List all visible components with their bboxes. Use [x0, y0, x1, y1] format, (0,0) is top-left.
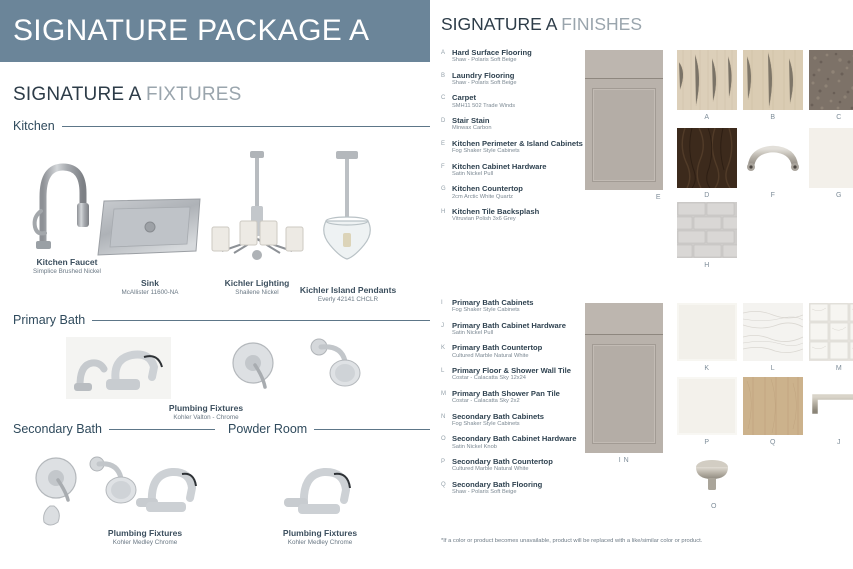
swatch-F-kitchen-cabinet-hardware: F: [743, 128, 803, 188]
legend-letter: G: [441, 184, 447, 200]
legend-item: B Laundry Flooring Shaw - Polaris Soft B…: [441, 71, 591, 87]
section-rule: [62, 126, 430, 127]
swatch-label-P: P: [704, 439, 709, 446]
fixture-caption-powder-plumbing: Plumbing Fixtures Kohler Medley Chrome: [240, 528, 400, 547]
mosaic-tile-texture: [809, 303, 853, 361]
legend-sub: Minwax Carbon: [452, 125, 492, 132]
finishes-column: SIGNATURE A FINISHES A Hard Surface Floo…: [436, 0, 853, 569]
legend-letter: F: [441, 162, 447, 178]
primary-bath-fixtures-area: Plumbing Fixtures Kohler Valton - Chrome: [0, 327, 430, 422]
legend-letter: L: [441, 366, 447, 382]
legend-letter: N: [441, 412, 447, 428]
fixture-sub: Kohler Medley Chrome: [240, 539, 400, 547]
primary-shower-head-image: [305, 335, 370, 397]
legend-name: Secondary Bath Flooring: [452, 480, 542, 489]
fixture-name: Kichler Island Pendants: [268, 285, 428, 296]
legend-item: A Hard Surface Flooring Shaw - Polaris S…: [441, 48, 591, 64]
kitchen-fixtures-area: Kitchen Faucet Simplice Brushed Nickel S…: [0, 133, 430, 313]
swatch-grid-top: E A: [585, 50, 853, 265]
fixture-name: Plumbing Fixtures: [240, 528, 400, 539]
section-rule: [92, 320, 430, 321]
fixture-caption-primary-plumbing: Plumbing Fixtures Kohler Valton - Chrome: [126, 403, 286, 422]
swatch-L-primary-floor-shower-tile: L: [743, 303, 803, 361]
legend-sub: 2cm Arctic White Quartz: [452, 194, 523, 201]
swatch-label-J: J: [837, 439, 841, 446]
legend-item: N Secondary Bath Cabinets Fog Shaker Sty…: [441, 412, 591, 428]
swatch-label-G: G: [836, 192, 842, 199]
calacatta-marble-texture: [743, 303, 803, 361]
swatch-Q-secondary-bath-flooring: Q: [743, 377, 803, 435]
swatch-label-F: F: [771, 192, 776, 199]
fixture-name: Plumbing Fixtures: [126, 403, 286, 414]
subway-tile-texture: [677, 202, 737, 258]
swatch-label-B: B: [770, 114, 775, 121]
legend-item: P Secondary Bath Countertop Cultured Mar…: [441, 457, 591, 473]
cabinet-door-drawing: [585, 50, 663, 190]
legend-sub: Costar - Calacatta Sky 12x24: [452, 375, 571, 382]
fixture-caption-secondary-plumbing: Plumbing Fixtures Kohler Medley Chrome: [65, 528, 225, 547]
legend-letter: B: [441, 71, 447, 87]
powder-lav-faucet-image: [278, 460, 358, 522]
legend-name: Kitchen Countertop: [452, 184, 523, 193]
legend-sub: Shaw - Polaris Soft Beige: [452, 57, 532, 64]
secondary-lav-faucet-image: [130, 458, 200, 520]
cultured-marble-texture: [677, 377, 737, 435]
swatch-label-O: O: [711, 503, 717, 510]
fixture-sub: Everly 42141 CHCLR: [268, 296, 428, 304]
legend-name: Secondary Bath Countertop: [452, 457, 553, 466]
finishes-heading-light: FINISHES: [561, 14, 642, 34]
legend-sub: Cultured Marble Natural White: [452, 353, 542, 360]
kichler-lighting-image: [202, 147, 312, 272]
section-label-secondary-bath: Secondary Bath: [13, 422, 102, 436]
cabinet-drawer: [585, 50, 663, 79]
swatch-IN-bath-cabinet: I N: [585, 303, 663, 453]
cabinet-drawer: [585, 303, 663, 335]
legend-sub: Vitruvian Polish 3x6 Grey: [452, 216, 539, 223]
powder-room-col: Powder Room: [215, 422, 430, 436]
carpet-texture: [809, 50, 853, 110]
legend-letter: Q: [441, 480, 447, 496]
wood-plank-texture: [743, 50, 803, 110]
swatch-label-Q: Q: [770, 439, 776, 446]
swatch-grid-bottom: I N K: [585, 303, 853, 518]
legend-letter: P: [441, 457, 447, 473]
swatch-A-hard-surface-flooring: A: [677, 50, 737, 110]
section-rule: [314, 429, 430, 430]
finishes-legend-group-2: I Primary Bath Cabinets Fog Shaker Style…: [441, 298, 591, 503]
page-title: SIGNATURE PACKAGE A: [0, 14, 369, 48]
legend-sub: Fog Shaker Style Cabinets: [452, 148, 583, 155]
cultured-marble-texture: [677, 303, 737, 361]
cabinet-door-drawing: [585, 303, 663, 453]
legend-name: Primary Bath Countertop: [452, 343, 542, 352]
legend-sub: Satin Nickel Knob: [452, 444, 577, 451]
bar-pull-icon: [809, 377, 853, 435]
swatch-K-primary-bath-countertop: K: [677, 303, 737, 361]
legend-name: Kitchen Cabinet Hardware: [452, 162, 547, 171]
spec-sheet-page: SIGNATURE PACKAGE A SIGNATURE A FIXTURES…: [0, 0, 853, 569]
legend-letter: J: [441, 321, 447, 337]
legend-letter: I: [441, 298, 447, 314]
fixture-caption-island-pendants: Kichler Island Pendants Everly 42141 CHC…: [268, 285, 428, 304]
legend-item: M Primary Bath Shower Pan Tile Costar - …: [441, 389, 591, 405]
cabinet-panel: [592, 344, 656, 445]
swatch-O-secondary-bath-cabinet-hardware: O: [685, 451, 743, 499]
secondary-bath-col: Secondary Bath: [0, 422, 215, 436]
legend-name: Laundry Flooring: [452, 71, 517, 80]
finishes-heading-dark: SIGNATURE A: [441, 14, 556, 34]
legend-sub: Satin Nickel Pull: [452, 330, 566, 337]
section-header-kitchen: Kitchen: [0, 119, 430, 133]
swatch-M-primary-shower-pan-tile: M: [809, 303, 853, 361]
finishes-footnote: *If a color or product becomes unavailab…: [441, 538, 702, 544]
legend-sub: Shaw - Polaris Soft Beige: [452, 80, 517, 87]
legend-item: I Primary Bath Cabinets Fog Shaker Style…: [441, 298, 591, 314]
legend-item: E Kitchen Perimeter & Island Cabinets Fo…: [441, 139, 591, 155]
primary-shower-valve-image: [225, 337, 285, 399]
swatch-C-carpet: C: [809, 50, 853, 110]
swatch-H-kitchen-tile-backsplash: H: [677, 202, 737, 258]
finishes-heading: SIGNATURE A FINISHES: [436, 0, 853, 35]
legend-item: H Kitchen Tile Backsplash Vitruvian Poli…: [441, 207, 591, 223]
fixtures-heading-light: FIXTURES: [146, 84, 242, 105]
swatch-B-laundry-flooring: B: [743, 50, 803, 110]
legend-name: Kitchen Perimeter & Island Cabinets: [452, 139, 583, 148]
bottom-sections-row: Secondary Bath Powder Room: [0, 422, 430, 436]
fixture-name: Plumbing Fixtures: [65, 528, 225, 539]
legend-name: Primary Floor & Shower Wall Tile: [452, 366, 571, 375]
finishes-legend-group-1: A Hard Surface Flooring Shaw - Polaris S…: [441, 48, 591, 230]
legend-name: Primary Bath Cabinets: [452, 298, 533, 307]
kitchen-sink-image: [88, 195, 213, 270]
wood-plank-texture: [743, 377, 803, 435]
section-label-primary-bath: Primary Bath: [13, 313, 85, 327]
legend-sub: Satin Nickel Pull: [452, 171, 547, 178]
legend-letter: E: [441, 139, 447, 155]
legend-letter: A: [441, 48, 447, 64]
legend-sub: Costar - Calacatta Sky 2x2: [452, 398, 560, 405]
legend-letter: D: [441, 116, 447, 132]
swatch-E-kitchen-cabinet: E: [585, 50, 663, 190]
legend-letter: K: [441, 343, 447, 359]
section-label-powder-room: Powder Room: [228, 422, 307, 436]
legend-name: Secondary Bath Cabinet Hardware: [452, 434, 577, 443]
kichler-island-pendant-image: [300, 147, 395, 282]
legend-name: Primary Bath Shower Pan Tile: [452, 389, 560, 398]
fixture-sub: Kohler Medley Chrome: [65, 539, 225, 547]
swatch-label-D: D: [704, 192, 710, 199]
section-rule: [109, 429, 215, 430]
legend-item: K Primary Bath Countertop Cultured Marbl…: [441, 343, 591, 359]
section-header-powder-room: Powder Room: [215, 422, 430, 436]
cabinet-pull-icon: [743, 128, 803, 188]
legend-item: G Kitchen Countertop 2cm Arctic White Qu…: [441, 184, 591, 200]
page-banner: SIGNATURE PACKAGE A: [0, 0, 430, 62]
swatch-label-M: M: [836, 365, 842, 372]
swatch-label-H: H: [704, 262, 710, 269]
dark-wood-stain-texture: [677, 128, 737, 188]
legend-sub: SMH11 502 Trade Winds: [452, 103, 515, 110]
fixtures-heading-dark: SIGNATURE A: [13, 84, 141, 105]
legend-sub: Cultured Marble Natural White: [452, 466, 553, 473]
legend-name: Hard Surface Flooring: [452, 48, 532, 57]
swatch-D-stair-stain: D: [677, 128, 737, 188]
legend-name: Stair Stain: [452, 116, 492, 125]
legend-item: L Primary Floor & Shower Wall Tile Costa…: [441, 366, 591, 382]
legend-name: Kitchen Tile Backsplash: [452, 207, 539, 216]
legend-item: D Stair Stain Minwax Carbon: [441, 116, 591, 132]
swatch-label-A: A: [704, 114, 709, 121]
legend-sub: Fog Shaker Style Cabinets: [452, 421, 544, 428]
legend-item: O Secondary Bath Cabinet Hardware Satin …: [441, 434, 591, 450]
legend-letter: O: [441, 434, 447, 450]
legend-item: J Primary Bath Cabinet Hardware Satin Ni…: [441, 321, 591, 337]
legend-name: Secondary Bath Cabinets: [452, 412, 544, 421]
swatch-label-IN: I N: [619, 457, 629, 464]
wood-plank-texture: [677, 50, 737, 110]
fixture-sub: Kohler Valton - Chrome: [126, 414, 286, 422]
swatch-label-K: K: [704, 365, 709, 372]
swatch-label-C: C: [836, 114, 842, 121]
swatch-P-secondary-bath-countertop: P: [677, 377, 737, 435]
swatch-J-primary-bath-cabinet-hardware: J: [809, 377, 853, 435]
primary-lav-faucet-image: [66, 337, 171, 399]
section-header-primary-bath: Primary Bath: [0, 313, 430, 327]
legend-item: Q Secondary Bath Flooring Shaw - Polaris…: [441, 480, 591, 496]
swatch-G-kitchen-countertop: G: [809, 128, 853, 188]
bottom-fixtures-area: Plumbing Fixtures Kohler Medley Chrome P…: [0, 436, 430, 556]
legend-letter: C: [441, 93, 447, 109]
legend-letter: M: [441, 389, 447, 405]
legend-item: F Kitchen Cabinet Hardware Satin Nickel …: [441, 162, 591, 178]
fixtures-heading: SIGNATURE A FIXTURES: [0, 62, 430, 106]
white-quartz-texture: [809, 128, 853, 188]
fixtures-column: SIGNATURE PACKAGE A SIGNATURE A FIXTURES…: [0, 0, 430, 569]
legend-item: C Carpet SMH11 502 Trade Winds: [441, 93, 591, 109]
legend-name: Primary Bath Cabinet Hardware: [452, 321, 566, 330]
cabinet-panel: [592, 88, 656, 182]
section-header-secondary-bath: Secondary Bath: [0, 422, 215, 436]
legend-sub: Fog Shaker Style Cabinets: [452, 307, 533, 314]
legend-name: Carpet: [452, 93, 515, 102]
legend-sub: Shaw - Polaris Soft Beige: [452, 489, 542, 496]
swatch-label-L: L: [771, 365, 775, 372]
swatch-label-E: E: [656, 194, 661, 201]
section-label-kitchen: Kitchen: [13, 119, 55, 133]
cabinet-knob-icon: [685, 451, 743, 499]
legend-letter: H: [441, 207, 447, 223]
